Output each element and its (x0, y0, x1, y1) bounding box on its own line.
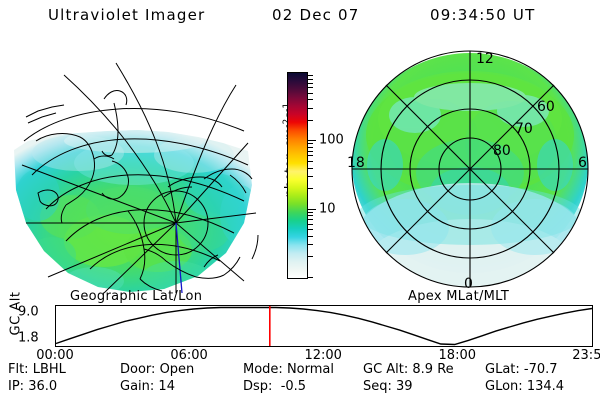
mlat-label-60: 60 (537, 99, 555, 115)
mlat-label-70: 70 (515, 121, 533, 137)
status-mode: Mode: Normal (243, 362, 334, 377)
apex-panel-caption: Apex MLat/MLT (408, 289, 509, 304)
status-gcalt: GC Alt: 8.9 Re (363, 362, 454, 377)
orbit-plot-box (55, 305, 593, 347)
header: Ultraviolet Imager 02 Dec 07 09:34:50 UT (0, 6, 600, 32)
colorbar-minor-tick (308, 143, 313, 144)
geographic-panel-caption: Geographic Lat/Lon (70, 289, 202, 304)
status-glon-key: GLon: (485, 379, 523, 394)
geographic-plot (8, 45, 260, 293)
colorbar-major-tick (308, 209, 316, 210)
colorbar-minor-tick (308, 161, 313, 162)
mlt-label-12: 12 (476, 51, 494, 67)
status-dsp: Dsp: -0.5 (243, 379, 306, 394)
colorbar-minor-tick (308, 219, 313, 220)
mlt-label-18: 18 (347, 155, 365, 171)
orbit-curve-svg (56, 306, 592, 346)
colorbar-gradient-box (287, 72, 308, 279)
colorbar-minor-tick (308, 147, 313, 148)
colorbar-minor-tick (308, 120, 313, 121)
status-door-value: Open (160, 362, 195, 377)
colorbar-minor-tick (308, 108, 313, 109)
apex-panel[interactable]: 12 6 0 18 60 70 80 (345, 45, 595, 293)
colorbar-minor-tick (308, 79, 313, 80)
orbit-xtick-label: 00:00 (36, 348, 73, 363)
colorbar-minor-tick (308, 244, 313, 245)
orbit-xtick-label: 23:59 (572, 348, 600, 363)
status-glat-key: GLat: (485, 362, 520, 377)
orbit-xtick-label: 06:00 (170, 348, 207, 363)
colorbar: photon cm-2s-1 10010 (262, 62, 342, 292)
status-glon-value: 134.4 (527, 379, 564, 394)
status-ip-key: IP: (8, 379, 24, 394)
colorbar-minor-tick (308, 277, 313, 278)
instrument-title: Ultraviolet Imager (48, 6, 205, 24)
geographic-panel[interactable] (8, 45, 260, 293)
observation-date: 02 Dec 07 (272, 6, 360, 24)
status-gain-key: Gain: (120, 379, 154, 394)
colorbar-minor-tick (308, 229, 313, 230)
status-mode-key: Mode: (243, 362, 283, 377)
colorbar-minor-tick (308, 99, 313, 100)
uvi-display: Ultraviolet Imager 02 Dec 07 09:34:50 UT (0, 0, 600, 400)
status-gcalt-key: GC Alt: (363, 362, 408, 377)
colorbar-major-tick (308, 140, 316, 141)
status-seq-key: Seq: (363, 379, 392, 394)
colorbar-minor-tick (308, 75, 313, 76)
colorbar-tick-label: 100 (319, 134, 344, 147)
colorbar-minor-tick (308, 215, 313, 216)
colorbar-minor-tick (308, 188, 313, 189)
apex-plot: 12 6 0 18 60 70 80 (345, 45, 595, 293)
status-door: Door: Open (120, 362, 194, 377)
status-glat-value: -70.7 (524, 362, 558, 377)
colorbar-minor-tick (308, 93, 313, 94)
status-mode-value: Normal (287, 362, 334, 377)
status-flt-value: LBHL (33, 362, 66, 377)
colorbar-minor-tick (308, 83, 313, 84)
status-row-2: IP: 36.0 Gain: 14 Dsp: -0.5 Seq: 39 GLon… (0, 379, 600, 396)
status-gain: Gain: 14 (120, 379, 175, 394)
status-flt-key: Flt: (8, 362, 29, 377)
colorbar-minor-tick (308, 168, 313, 169)
colorbar-minor-tick (308, 176, 313, 177)
orbit-ytick-min: 1.8 (18, 331, 39, 346)
status-dsp-key: Dsp: (243, 379, 272, 394)
colorbar-tick-label: 10 (319, 202, 336, 215)
orbit-ytick-max: 9.0 (18, 305, 39, 320)
colorbar-minor-tick (308, 224, 313, 225)
colorbar-minor-tick (308, 155, 313, 156)
status-ip-value: 36.0 (28, 379, 57, 394)
orbit-altitude-strip[interactable]: GC Alt Geographic Lat/Lon Apex MLat/MLT … (0, 292, 600, 358)
status-flt: Flt: LBHL (8, 362, 66, 377)
status-footer: Flt: LBHL Door: Open Mode: Normal GC Alt… (0, 362, 600, 400)
orbit-xtick-label: 18:00 (439, 348, 476, 363)
colorbar-minor-tick (308, 151, 313, 152)
mlat-label-80: 80 (493, 143, 511, 159)
colorbar-minor-tick (308, 212, 313, 213)
orbit-xtick-label: 12:00 (304, 348, 341, 363)
mlt-label-6: 6 (578, 155, 587, 171)
status-seq-value: 39 (396, 379, 413, 394)
status-row-1: Flt: LBHL Door: Open Mode: Normal GC Alt… (0, 362, 600, 379)
colorbar-minor-tick (308, 236, 313, 237)
status-gcalt-value: 8.9 Re (412, 362, 453, 377)
colorbar-gradient (288, 73, 307, 278)
colorbar-minor-tick (308, 256, 313, 257)
colorbar-minor-tick (308, 87, 313, 88)
status-ip: IP: 36.0 (8, 379, 57, 394)
status-glat: GLat: -70.7 (485, 362, 558, 377)
status-seq: Seq: 39 (363, 379, 413, 394)
status-gain-value: 14 (158, 379, 175, 394)
status-door-key: Door: (120, 362, 155, 377)
status-dsp-value: -0.5 (281, 379, 306, 394)
observation-time: 09:34:50 UT (430, 6, 535, 24)
mlt-spokes (352, 51, 588, 287)
altitude-curve (56, 308, 592, 345)
status-glon: GLon: 134.4 (485, 379, 564, 394)
